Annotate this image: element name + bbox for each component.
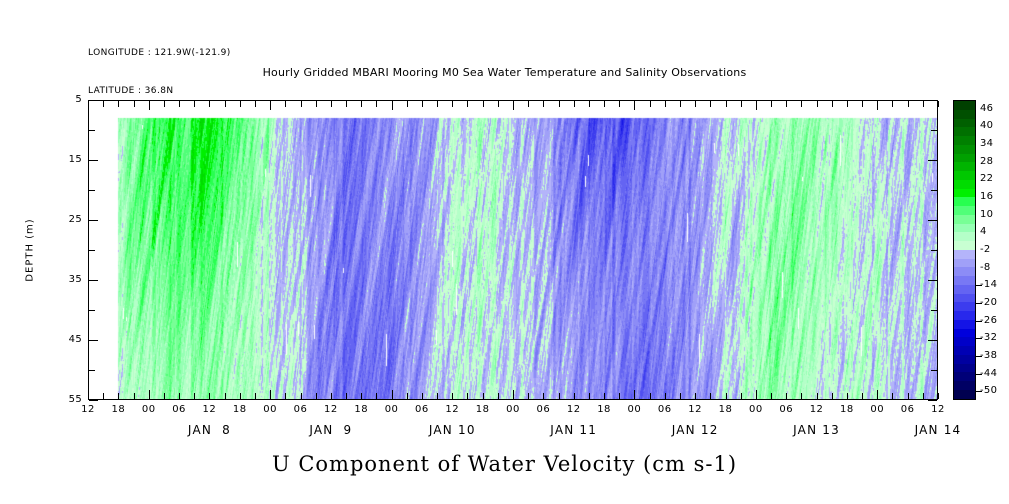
x-tick-bottom (832, 393, 833, 399)
x-axis-hour-label: 12 (680, 404, 710, 415)
x-axis-hour-label: 00 (741, 404, 771, 415)
x-tick-top (665, 101, 666, 107)
x-tick-bottom (817, 393, 818, 399)
x-axis-day-label: JAN 11 (514, 423, 634, 437)
x-tick-top (240, 101, 241, 107)
x-tick-bottom (710, 393, 711, 399)
x-tick-bottom (392, 390, 393, 399)
x-tick-bottom (619, 393, 620, 399)
x-axis-hour-label: 12 (437, 404, 467, 415)
y-tick-left (89, 280, 98, 281)
x-axis-hour-label: 06 (893, 404, 923, 415)
x-tick-top (407, 101, 408, 107)
colorbar-band (954, 329, 975, 338)
x-tick-top (650, 101, 651, 107)
colorbar-tick-label: -14 (980, 279, 997, 290)
y-axis-tick-label: 45 (26, 334, 82, 345)
x-tick-top (559, 101, 560, 107)
x-tick-top (832, 101, 833, 107)
x-tick-top (543, 101, 544, 107)
y-tick-left (89, 310, 95, 311)
x-tick-top (437, 101, 438, 107)
colorbar-band (954, 320, 975, 329)
x-tick-top (270, 101, 271, 110)
x-tick-bottom (179, 393, 180, 399)
colorbar-tick-label: -8 (980, 262, 991, 273)
x-tick-bottom (118, 393, 119, 399)
colorbar-band (954, 294, 975, 303)
y-axis-title: DEPTH (m) (25, 218, 36, 281)
x-tick-bottom (513, 390, 514, 399)
x-tick-bottom (346, 393, 347, 399)
longitude-text: LONGITUDE : 121.9W(-121.9) (88, 47, 231, 60)
x-tick-bottom (543, 393, 544, 399)
x-axis-hour-label: 12 (194, 404, 224, 415)
x-tick-bottom (134, 393, 135, 399)
x-tick-bottom (422, 393, 423, 399)
y-tick-right (931, 250, 937, 251)
x-tick-top (467, 101, 468, 107)
x-axis-hour-label: 06 (407, 404, 437, 415)
x-tick-top (361, 101, 362, 107)
colorbar-tick-label: 40 (980, 120, 993, 131)
x-axis-hour-label: 18 (103, 404, 133, 415)
colorbar-tick-label: -44 (980, 368, 997, 379)
x-tick-top (862, 101, 863, 107)
x-tick-bottom (483, 393, 484, 399)
x-tick-bottom (149, 390, 150, 399)
x-tick-bottom (862, 393, 863, 399)
x-tick-top (392, 101, 393, 110)
colorbar-tick-label: 46 (980, 103, 993, 114)
colorbar-tick-label: -2 (980, 244, 991, 255)
latitude-text: LATITUDE : 36.8N (88, 85, 231, 98)
y-tick-right (931, 190, 937, 191)
colorbar-band (954, 276, 975, 285)
x-tick-top (604, 101, 605, 107)
colorbar-tick-label: 22 (980, 173, 993, 184)
colorbar-band (954, 241, 975, 250)
y-tick-right (928, 340, 937, 341)
x-tick-top (634, 101, 635, 110)
x-axis-hour-label: 18 (468, 404, 498, 415)
x-tick-bottom (452, 393, 453, 399)
colorbar-band (954, 285, 975, 294)
x-tick-bottom (695, 393, 696, 399)
x-tick-bottom (225, 393, 226, 399)
x-tick-bottom (209, 393, 210, 399)
x-tick-bottom (361, 393, 362, 399)
x-tick-bottom (574, 393, 575, 399)
x-tick-bottom (604, 393, 605, 399)
x-tick-bottom (559, 393, 560, 399)
colorbar-band (954, 171, 975, 180)
x-tick-bottom (164, 393, 165, 399)
colorbar-band (954, 267, 975, 276)
x-axis-day-label: JAN 13 (757, 423, 877, 437)
x-tick-top (88, 101, 89, 107)
x-axis-hour-label: 12 (559, 404, 589, 415)
x-tick-top (346, 101, 347, 107)
y-tick-right (928, 160, 937, 161)
colorbar-band (954, 381, 975, 390)
y-axis-tick-label: 15 (26, 154, 82, 165)
x-tick-bottom (756, 390, 757, 399)
colorbar-band (954, 390, 975, 399)
x-tick-top (179, 101, 180, 107)
x-tick-bottom (892, 393, 893, 399)
y-tick-left (89, 130, 95, 131)
y-tick-right (928, 400, 937, 401)
x-tick-top (786, 101, 787, 107)
x-axis-hour-label: 18 (832, 404, 862, 415)
colorbar (953, 100, 976, 400)
x-tick-bottom (877, 390, 878, 399)
colorbar-tick-mark (976, 356, 982, 357)
colorbar-band (954, 119, 975, 128)
y-tick-right (931, 130, 937, 131)
colorbar-tick-mark (976, 338, 982, 339)
x-tick-bottom (103, 393, 104, 399)
x-tick-top (528, 101, 529, 107)
x-tick-top (164, 101, 165, 107)
x-tick-bottom (786, 393, 787, 399)
x-axis-hour-label: 00 (619, 404, 649, 415)
x-tick-bottom (938, 393, 939, 399)
x-tick-bottom (847, 393, 848, 399)
x-tick-bottom (194, 393, 195, 399)
colorbar-band (954, 136, 975, 145)
x-tick-top (225, 101, 226, 107)
colorbar-band (954, 180, 975, 189)
colorbar-band (954, 250, 975, 259)
x-tick-bottom (771, 393, 772, 399)
x-tick-top (756, 101, 757, 110)
x-tick-bottom (270, 390, 271, 399)
x-tick-bottom (741, 393, 742, 399)
x-tick-top (285, 101, 286, 107)
x-tick-top (741, 101, 742, 107)
chart-title: Hourly Gridded MBARI Mooring M0 Sea Wate… (0, 66, 1009, 79)
colorbar-band (954, 364, 975, 373)
x-axis-day-label: JAN 8 (149, 423, 269, 437)
x-axis-day-label: JAN 15 (999, 423, 1009, 437)
x-tick-top (817, 101, 818, 107)
x-tick-bottom (240, 393, 241, 399)
y-tick-left (89, 400, 98, 401)
x-axis-hour-label: 18 (346, 404, 376, 415)
x-axis-hour-label: 06 (650, 404, 680, 415)
colorbar-band (954, 197, 975, 206)
x-axis-day-label: JAN 12 (635, 423, 755, 437)
x-tick-top (422, 101, 423, 107)
x-tick-top (619, 101, 620, 107)
x-tick-bottom (908, 393, 909, 399)
x-axis-hour-label: 12 (923, 404, 953, 415)
x-axis-hour-label: 12 (73, 404, 103, 415)
y-tick-left (89, 340, 98, 341)
colorbar-tick-label: 16 (980, 191, 993, 202)
y-tick-right (931, 310, 937, 311)
x-axis-hour-label: 00 (134, 404, 164, 415)
x-tick-top (771, 101, 772, 107)
y-tick-left (89, 190, 95, 191)
y-tick-left (89, 370, 95, 371)
x-tick-bottom (255, 393, 256, 399)
x-tick-bottom (680, 393, 681, 399)
colorbar-tick-label: -38 (980, 350, 997, 361)
x-axis-hour-label: 00 (377, 404, 407, 415)
y-tick-right (928, 220, 937, 221)
colorbar-tick-label: 4 (980, 226, 987, 237)
colorbar-band (954, 127, 975, 136)
colorbar-band (954, 302, 975, 311)
colorbar-band (954, 259, 975, 268)
x-axis-day-label: JAN 14 (878, 423, 998, 437)
figure-caption: U Component of Water Velocity (cm s-1) (0, 452, 1009, 476)
x-axis-hour-label: 00 (498, 404, 528, 415)
x-tick-bottom (634, 390, 635, 399)
x-axis-hour-label: 06 (164, 404, 194, 415)
x-axis-hour-label: 18 (225, 404, 255, 415)
x-tick-top (498, 101, 499, 107)
x-axis-day-label: JAN 10 (392, 423, 512, 437)
x-axis-hour-label: 12 (802, 404, 832, 415)
colorbar-band (954, 346, 975, 355)
colorbar-band (954, 110, 975, 119)
x-tick-bottom (726, 393, 727, 399)
colorbar-tick-mark (976, 285, 982, 286)
y-tick-left (89, 160, 98, 161)
x-tick-top (908, 101, 909, 107)
x-tick-bottom (923, 393, 924, 399)
x-tick-bottom (316, 393, 317, 399)
colorbar-band (954, 224, 975, 233)
x-tick-bottom (285, 393, 286, 399)
x-tick-top (877, 101, 878, 110)
colorbar-band (954, 189, 975, 198)
x-tick-top (892, 101, 893, 107)
x-tick-bottom (467, 393, 468, 399)
colorbar-tick-label: -32 (980, 332, 997, 343)
x-tick-top (209, 101, 210, 107)
x-tick-bottom (407, 393, 408, 399)
y-tick-left (89, 220, 98, 221)
colorbar-tick-label: -20 (980, 297, 997, 308)
colorbar-band (954, 206, 975, 215)
x-axis-hour-label: 18 (589, 404, 619, 415)
x-axis-hour-label: 06 (286, 404, 316, 415)
y-tick-right (928, 280, 937, 281)
x-tick-top (923, 101, 924, 107)
x-tick-top (134, 101, 135, 107)
x-tick-top (695, 101, 696, 107)
x-tick-top (376, 101, 377, 107)
colorbar-tick-label: 28 (980, 156, 993, 167)
colorbar-tick-mark (976, 391, 982, 392)
colorbar-band (954, 145, 975, 154)
x-axis-hour-label: 00 (862, 404, 892, 415)
x-axis-hour-label: 06 (771, 404, 801, 415)
x-tick-top (589, 101, 590, 107)
x-tick-top (574, 101, 575, 107)
x-tick-bottom (589, 393, 590, 399)
x-tick-top (149, 101, 150, 110)
x-tick-top (255, 101, 256, 107)
x-tick-bottom (528, 393, 529, 399)
x-axis-day-label: JAN 9 (271, 423, 391, 437)
x-tick-top (801, 101, 802, 107)
colorbar-band (954, 162, 975, 171)
x-tick-top (680, 101, 681, 107)
x-tick-bottom (801, 393, 802, 399)
colorbar-tick-mark (976, 374, 982, 375)
x-tick-top (710, 101, 711, 107)
y-tick-right (931, 370, 937, 371)
velocity-heatmap-canvas (89, 101, 937, 399)
y-tick-right (928, 100, 937, 101)
x-tick-bottom (331, 393, 332, 399)
x-axis-hour-label: 18 (711, 404, 741, 415)
colorbar-band (954, 154, 975, 163)
colorbar-tick-label: -26 (980, 315, 997, 326)
colorbar-band (954, 311, 975, 320)
x-tick-bottom (437, 393, 438, 399)
x-tick-top (118, 101, 119, 107)
colorbar-tick-mark (976, 303, 982, 304)
x-tick-bottom (650, 393, 651, 399)
x-tick-top (331, 101, 332, 107)
x-tick-bottom (88, 393, 89, 399)
colorbar-tick-mark (976, 321, 982, 322)
x-tick-bottom (301, 393, 302, 399)
x-tick-top (726, 101, 727, 107)
x-tick-top (513, 101, 514, 110)
x-tick-top (452, 101, 453, 107)
x-tick-top (316, 101, 317, 107)
x-axis-hour-label: 06 (528, 404, 558, 415)
y-axis-tick-label: 5 (26, 94, 82, 105)
colorbar-tick-label: -50 (980, 385, 997, 396)
x-tick-bottom (376, 393, 377, 399)
x-tick-top (194, 101, 195, 107)
x-axis-hour-label: 00 (255, 404, 285, 415)
x-tick-top (938, 101, 939, 107)
colorbar-tick-label: 34 (980, 138, 993, 149)
heatmap-plot-area (88, 100, 938, 400)
colorbar-band (954, 337, 975, 346)
x-tick-top (847, 101, 848, 107)
x-tick-top (483, 101, 484, 107)
colorbar-band (954, 355, 975, 364)
colorbar-tick-label: 10 (980, 209, 993, 220)
colorbar-band (954, 232, 975, 241)
y-tick-left (89, 250, 95, 251)
x-tick-top (301, 101, 302, 107)
x-tick-bottom (498, 393, 499, 399)
x-tick-top (103, 101, 104, 107)
colorbar-band (954, 101, 975, 110)
colorbar-band (954, 215, 975, 224)
colorbar-band (954, 372, 975, 381)
x-axis-hour-label: 12 (316, 404, 346, 415)
x-tick-bottom (665, 393, 666, 399)
y-tick-left (89, 100, 98, 101)
